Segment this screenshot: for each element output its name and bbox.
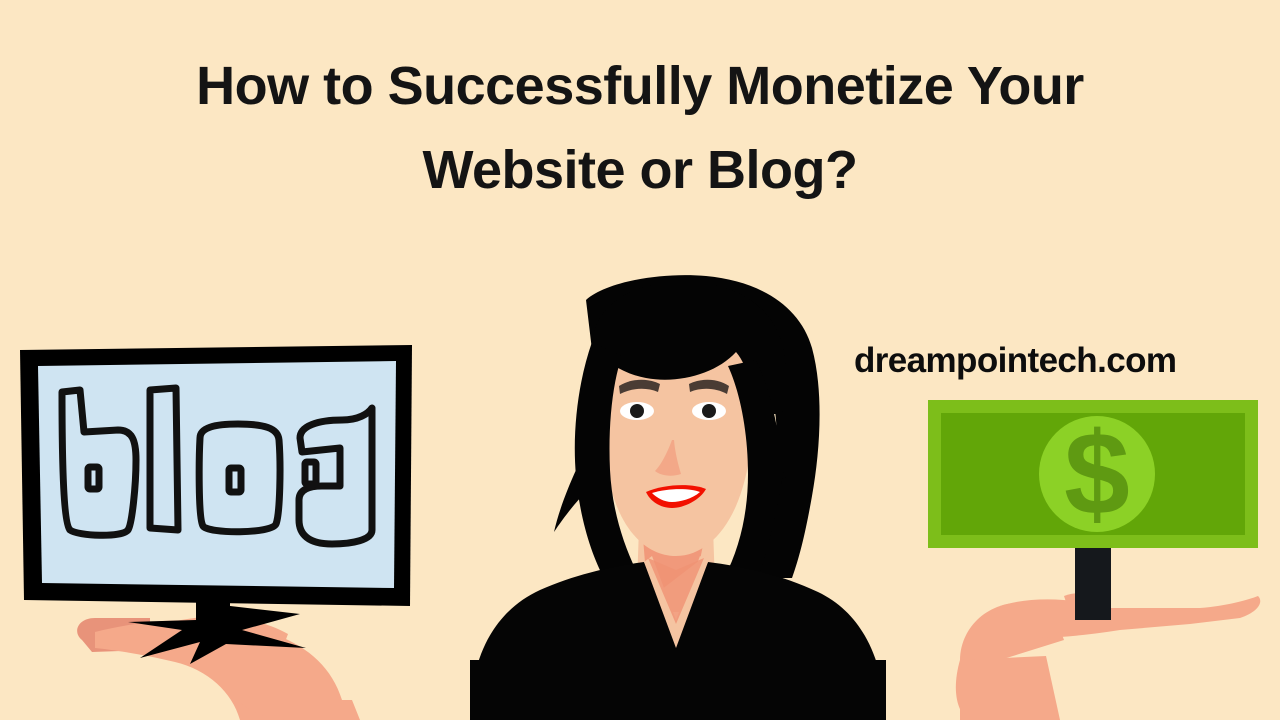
watermark-url: dreampointech.com bbox=[854, 340, 1176, 382]
person-illustration bbox=[470, 275, 886, 720]
money-bill-icon: $ bbox=[928, 400, 1258, 548]
poster-canvas: $ bbox=[0, 0, 1280, 720]
money-stick-icon bbox=[1075, 540, 1111, 620]
monitor-icon bbox=[20, 345, 412, 606]
title-line-1: How to Successfully Monetize Your bbox=[0, 44, 1280, 128]
dollar-symbol: $ bbox=[1064, 408, 1130, 540]
title-line-2: Website or Blog? bbox=[0, 128, 1280, 212]
page-title: How to Successfully Monetize Your Websit… bbox=[0, 44, 1280, 212]
